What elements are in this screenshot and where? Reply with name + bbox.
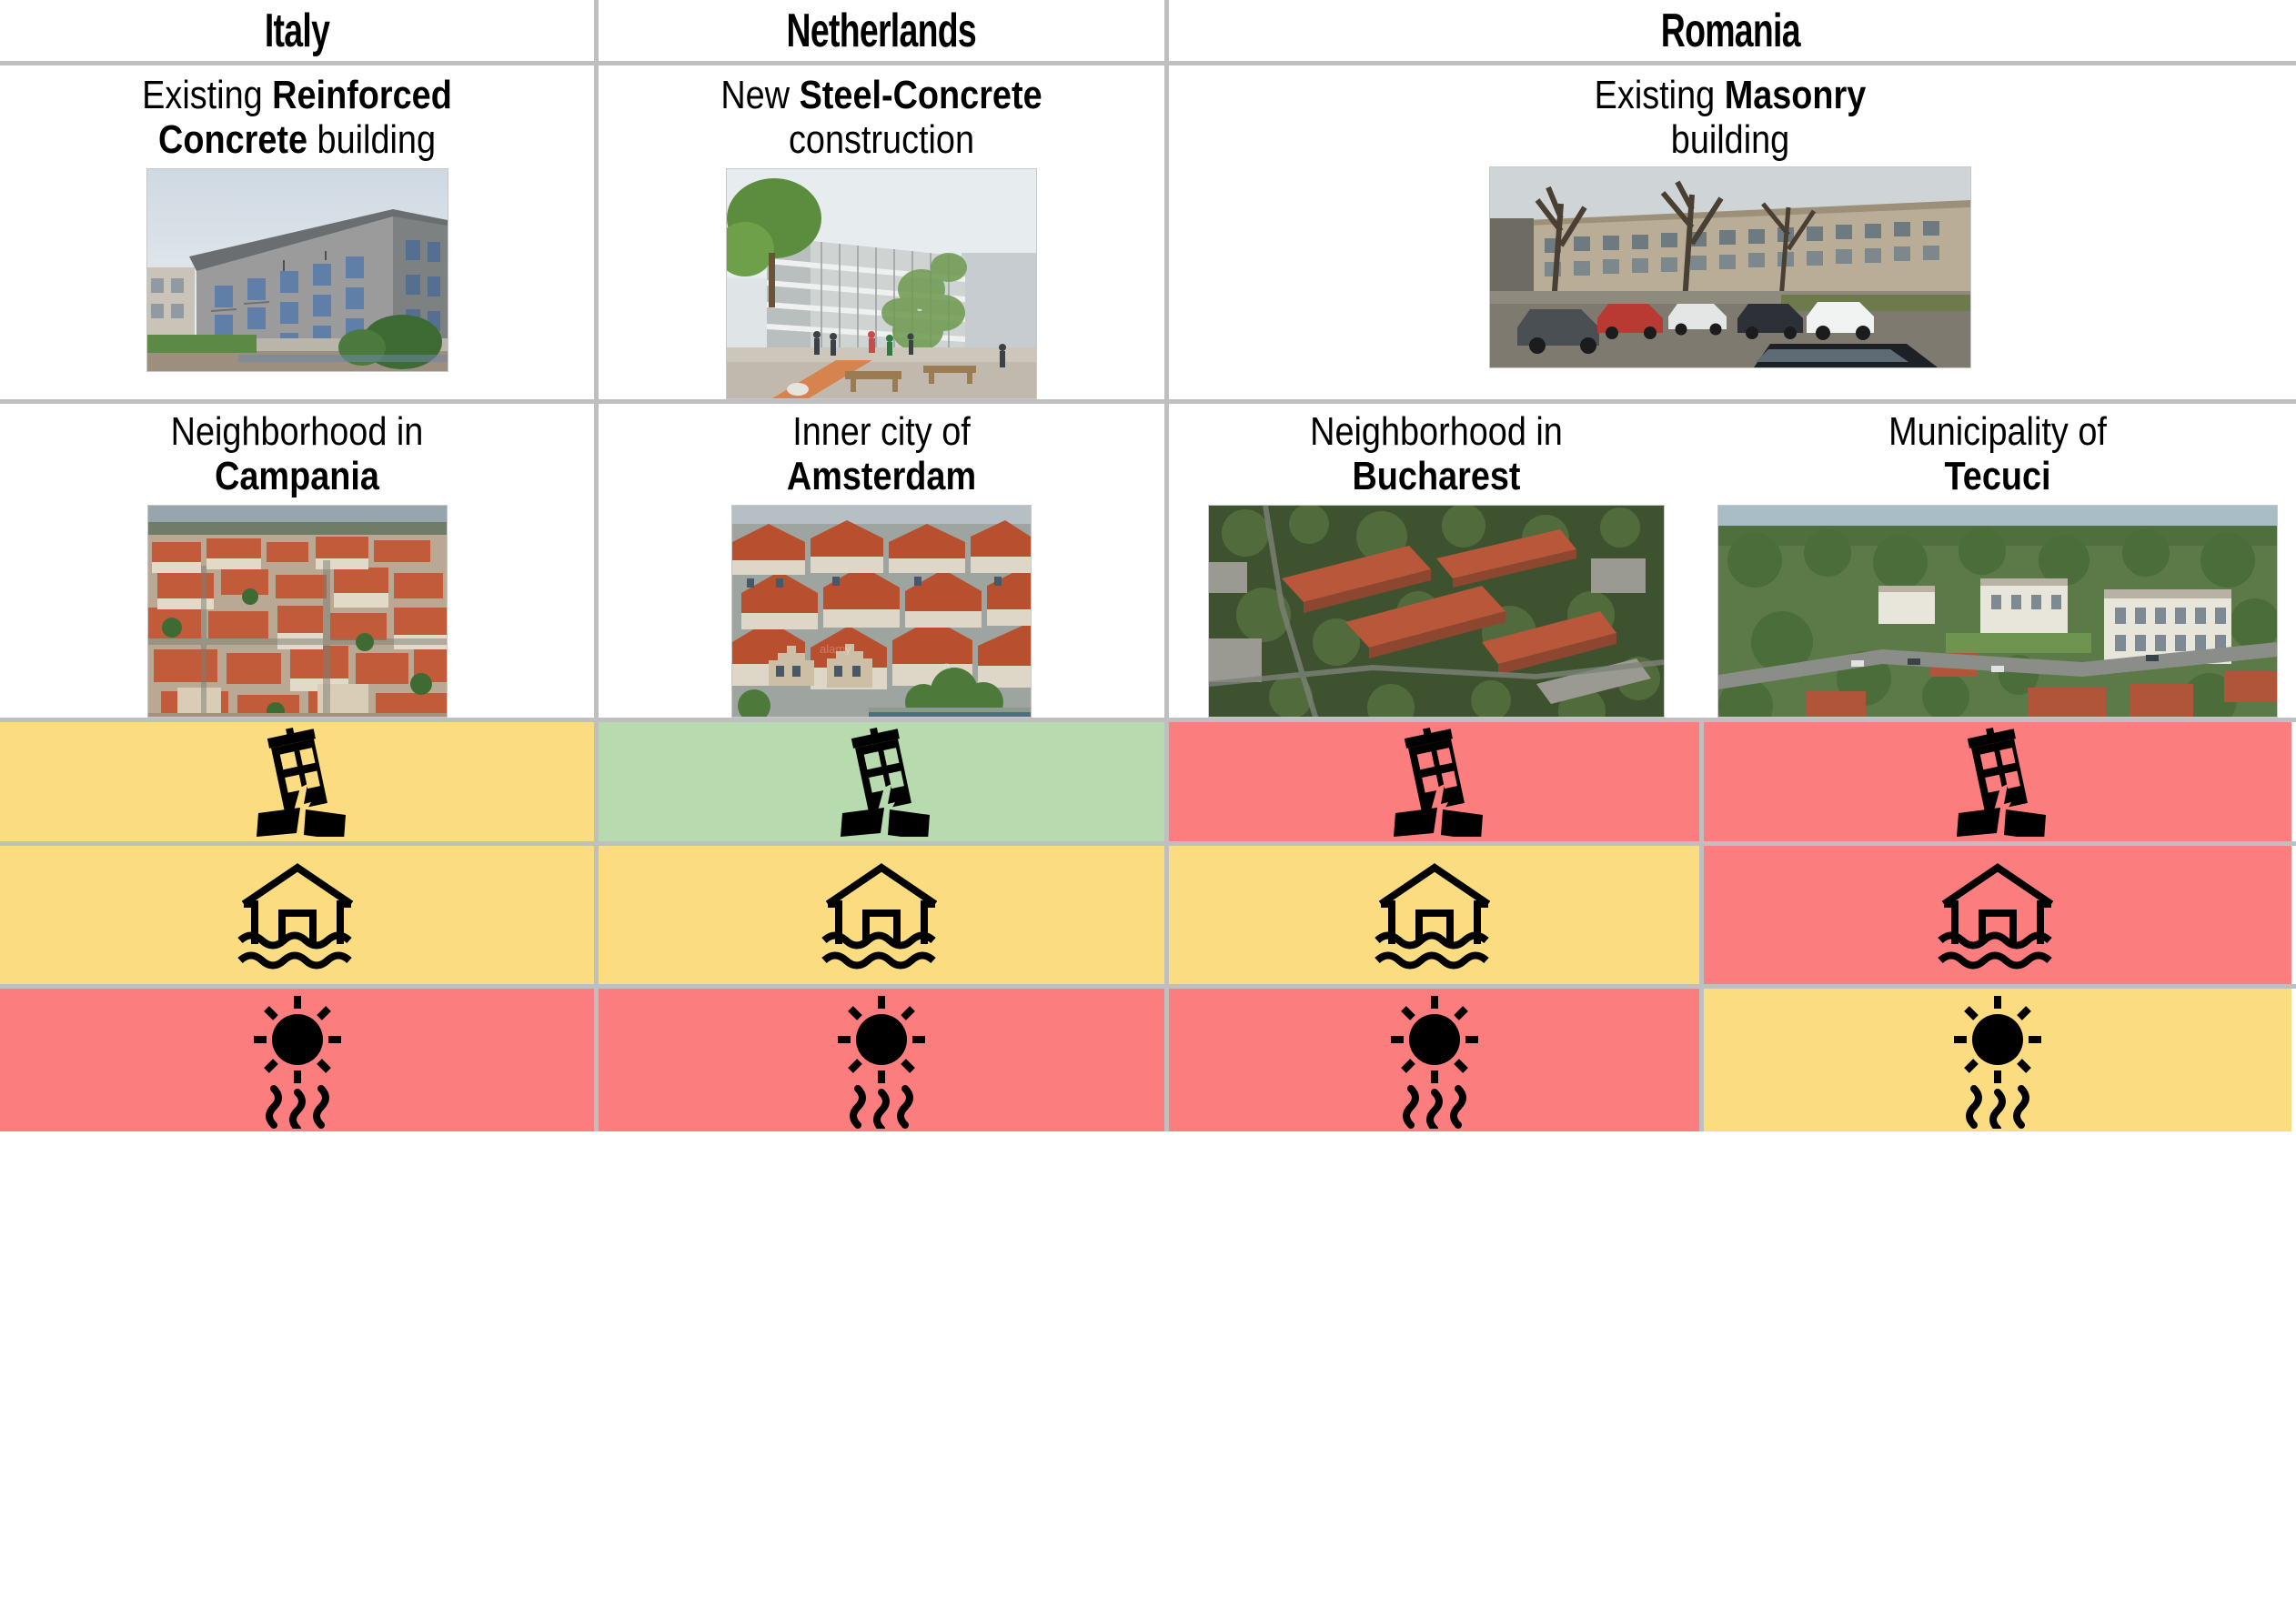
building-label-strong: Steel-Concrete	[800, 73, 1042, 117]
header-cell-italy: Italy	[0, 0, 599, 61]
case-study-comparison-table: Italy Netherlands Romania Existing Reinf…	[0, 0, 2296, 1608]
amsterdam-inner-city-aerial-photo: alamya	[731, 505, 1032, 718]
building-cell-italy: Existing Reinforced Concrete building	[0, 65, 599, 399]
building-cell-netherlands: New Steel-Concrete construction	[599, 65, 1169, 399]
hazard-row-earthquake	[0, 722, 2296, 846]
hazard-cell-heat-italy	[0, 989, 599, 1131]
neighbourhood-cell-tecuci: Municipality of Tecuci	[1704, 404, 2291, 718]
neighbourhood-label-line1: Municipality of	[1888, 409, 2107, 454]
building-label-romania: Existing Masonry building	[1247, 65, 2212, 163]
earthquake-icon	[1929, 728, 2066, 837]
building-label-netherlands: New Steel-Concrete construction	[639, 65, 1125, 163]
neighbourhood-cell-campania: Neighborhood in Campania	[0, 404, 599, 718]
hazard-cell-earthquake-netherlands	[599, 722, 1169, 841]
building-label-suffix: building	[1671, 117, 1789, 162]
building-label-suffix: building	[307, 117, 436, 162]
header-cell-netherlands: Netherlands	[599, 0, 1169, 61]
neighbourhood-label-campania: Neighborhood in Campania	[42, 404, 553, 499]
country-title-romania: Romania	[1660, 7, 1799, 55]
earthquake-icon	[813, 728, 950, 837]
svg-text:a: a	[943, 658, 951, 672]
building-cell-romania: Existing Masonry building	[1169, 65, 2291, 399]
campania-neighborhood-aerial-photo	[147, 505, 448, 718]
heat-sun-icon	[1371, 992, 1498, 1129]
earthquake-icon	[1366, 728, 1503, 837]
italy-reinforced-concrete-building-photo	[146, 168, 448, 372]
hazard-cell-heat-netherlands	[599, 989, 1169, 1131]
svg-text:alamy: alamy	[820, 642, 851, 656]
flood-icon	[1929, 857, 2066, 973]
hazard-cell-earthquake-italy	[0, 722, 599, 841]
hazard-cell-heat-bucharest	[1169, 989, 1704, 1131]
hazard-row-heat	[0, 989, 2296, 1131]
hazard-cell-flood-tecuci	[1704, 846, 2291, 984]
hazard-row-flood	[0, 846, 2296, 989]
hazard-cell-flood-bucharest	[1169, 846, 1704, 984]
flood-icon	[813, 857, 950, 973]
table-header-row: Italy Netherlands Romania	[0, 0, 2296, 65]
earthquake-icon	[229, 728, 366, 837]
hazard-cell-flood-italy	[0, 846, 599, 984]
hazard-cell-earthquake-bucharest	[1169, 722, 1704, 841]
neighbourhood-label-line2: Tecuci	[1944, 454, 2050, 498]
heat-sun-icon	[818, 992, 945, 1129]
hazard-cell-flood-netherlands	[599, 846, 1169, 984]
country-title-italy: Italy	[265, 7, 329, 55]
neighbourhood-label-line1: Inner city of	[792, 409, 971, 454]
netherlands-steel-concrete-construction-render	[726, 168, 1037, 399]
building-label-strong: Masonry	[1725, 73, 1867, 117]
neighbourhood-row: Neighborhood in Campania	[0, 404, 2296, 722]
neighbourhood-label-line2: Campania	[215, 454, 379, 498]
building-label-suffix: construction	[789, 117, 974, 162]
building-typology-row: Existing Reinforced Concrete building	[0, 65, 2296, 404]
building-label-prefix: Existing	[142, 73, 272, 117]
heat-sun-icon	[234, 992, 361, 1129]
country-title-netherlands: Netherlands	[787, 7, 976, 55]
neighbourhood-cell-amsterdam: Inner city of Amsterdam	[599, 404, 1169, 718]
building-label-strong: Reinforced	[272, 73, 452, 117]
building-label-prefix: New	[720, 73, 799, 117]
neighbourhood-label-line2: Bucharest	[1352, 454, 1520, 498]
neighbourhood-label-bucharest: Neighborhood in Bucharest	[1206, 404, 1667, 499]
neighbourhood-cell-bucharest: Neighborhood in Bucharest	[1169, 404, 1704, 718]
building-label-italy: Existing Reinforced Concrete building	[42, 65, 553, 163]
hazard-cell-earthquake-tecuci	[1704, 722, 2291, 841]
neighbourhood-label-line1: Neighborhood in	[1310, 409, 1563, 454]
flood-icon	[229, 857, 366, 973]
heat-sun-icon	[1934, 992, 2061, 1129]
bucharest-neighborhood-aerial-photo	[1208, 505, 1665, 718]
tecuci-municipality-aerial-photo	[1717, 505, 2278, 718]
romania-masonry-building-photo	[1489, 166, 1971, 368]
hazard-cell-heat-tecuci	[1704, 989, 2291, 1131]
neighbourhood-label-line1: Neighborhood in	[171, 409, 424, 454]
header-cell-romania: Romania	[1169, 0, 2291, 61]
neighbourhood-label-tecuci: Municipality of Tecuci	[1745, 404, 2251, 499]
building-label-strong-2: Concrete	[158, 117, 307, 162]
neighbourhood-label-line2: Amsterdam	[787, 454, 976, 498]
neighbourhood-label-amsterdam: Inner city of Amsterdam	[639, 404, 1125, 499]
building-label-prefix: Existing	[1595, 73, 1725, 117]
flood-icon	[1366, 857, 1503, 973]
